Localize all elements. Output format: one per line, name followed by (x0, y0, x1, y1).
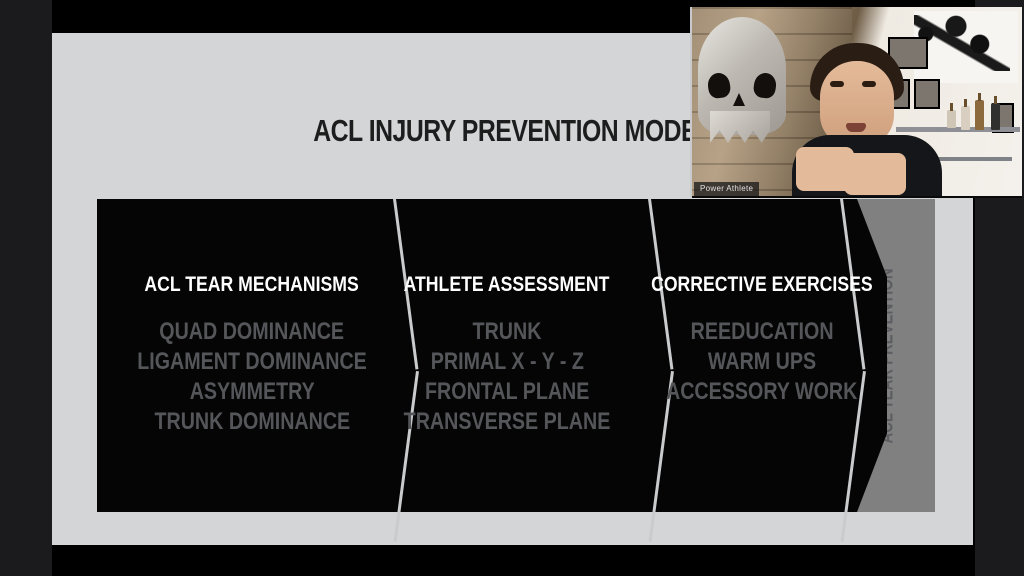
letterbox-bottom (52, 545, 975, 576)
stage-2-items: TRUNK PRIMAL X - Y - Z FRONTAL PLANE TRA… (381, 317, 633, 437)
speaker-person (788, 43, 942, 198)
stage-2-heading: ATHLETE ASSESSMENT (404, 273, 610, 297)
screen-stage: ACL INJURY PREVENTION MODEL ACL TEAR PRE… (0, 0, 1024, 576)
stage-1-items: QUAD DOMINANCE LIGAMENT DOMINANCE ASYMME… (112, 317, 392, 437)
stage-1-item: QUAD DOMINANCE (160, 317, 345, 347)
stage-3-item: WARM UPS (708, 347, 816, 377)
stage-2-item: TRUNK (473, 317, 542, 347)
hand-right (844, 153, 906, 195)
webcam-video-tile[interactable]: Power Athlete (690, 7, 1022, 198)
webcam-bottom-border (692, 196, 1022, 198)
eye-right (862, 81, 876, 87)
letterbox-left (0, 0, 52, 576)
bottle (947, 110, 956, 128)
mouth (846, 123, 866, 132)
process-stage-3: CORRECTIVE EXERCISES REEDUCATION WARM UP… (612, 199, 912, 512)
stage-2-item: PRIMAL X - Y - Z (430, 347, 583, 377)
stage-1-item: LIGAMENT DOMINANCE (137, 347, 367, 377)
stage-3-item: ACCESSORY WORK (666, 377, 857, 407)
stage-1-item: ASYMMETRY (189, 377, 314, 407)
bottle (975, 100, 984, 130)
bottle (991, 103, 1000, 130)
stage-3-heading: CORRECTIVE EXERCISES (651, 273, 873, 297)
stage-2-item: TRANSVERSE PLANE (404, 407, 611, 437)
stage-3-item: REEDUCATION (691, 317, 834, 347)
stage-1-item: TRUNK DOMINANCE (154, 407, 350, 437)
stage-3-items: REEDUCATION WARM UPS ACCESSORY WORK (645, 317, 878, 407)
stage-1-heading: ACL TEAR MECHANISMS (145, 273, 359, 297)
eye-left (830, 81, 844, 87)
participant-name-label: Power Athlete (694, 182, 759, 196)
bottle (961, 106, 970, 130)
stage-2-item: FRONTAL PLANE (425, 377, 589, 407)
